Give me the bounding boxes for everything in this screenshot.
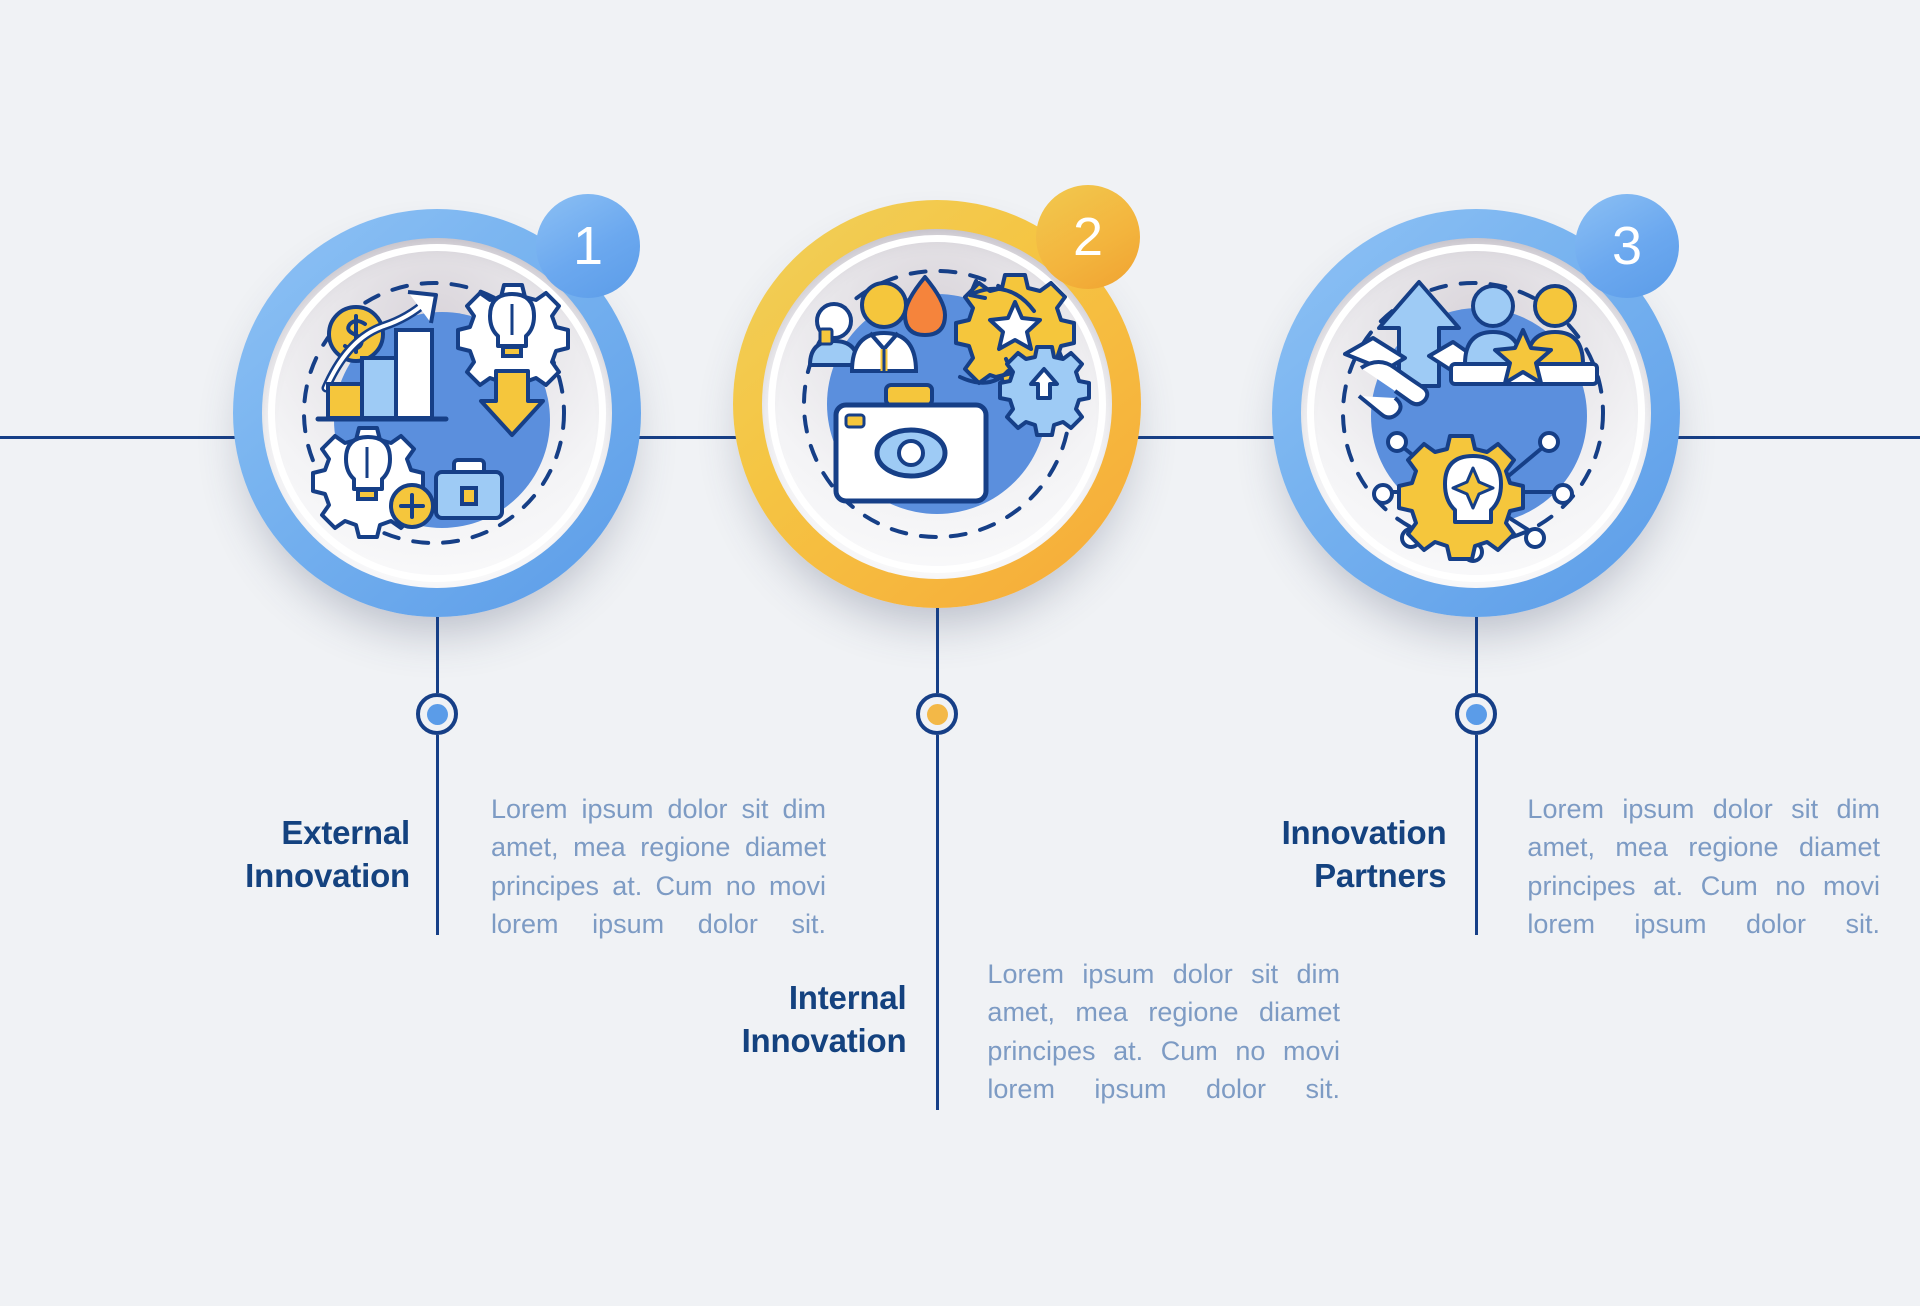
step-body-1: Lorem ipsum dolor sit dim amet, mea regi… [491, 790, 826, 943]
step-stem-upper-3 [1475, 617, 1478, 693]
step-title-2: Internal Innovation [620, 955, 942, 1063]
step-dot-core-2 [927, 704, 948, 725]
step-badge-number-2: 2 [1073, 210, 1103, 264]
step-badge-number-1: 1 [573, 219, 603, 273]
step-ring-inner-1 [262, 238, 612, 588]
step-circle-3[interactable]: 3 [1272, 209, 1680, 617]
step-title-3: Innovation Partners [1160, 790, 1482, 898]
step-dot-3[interactable] [1455, 693, 1497, 735]
step-node-3: 3 Innovation Partners Lorem ipsum dolor … [0, 0, 1920, 1306]
step-ring-inner-3 [1301, 238, 1651, 588]
step-body-3: Lorem ipsum dolor sit dim amet, mea regi… [1527, 790, 1880, 943]
step-text-2: Internal Innovation Lorem ipsum dolor si… [620, 955, 1340, 1108]
infographic-canvas: 1 External Innovation Lorem ipsum dolor … [0, 0, 1920, 1306]
step-dot-2[interactable] [916, 693, 958, 735]
step-title-line2-1: Innovation [120, 855, 410, 898]
step-dot-core-3 [1466, 704, 1487, 725]
step-title-1: External Innovation [120, 790, 446, 898]
step-title-line2-2: Innovation [620, 1020, 906, 1063]
step-body-2: Lorem ipsum dolor sit dim amet, mea regi… [987, 955, 1340, 1108]
step-title-line1-3: Innovation [1160, 812, 1446, 855]
step-circle-1[interactable]: 1 [233, 209, 641, 617]
step-text-3: Innovation Partners Lorem ipsum dolor si… [1160, 790, 1880, 943]
step-badge-number-3: 3 [1612, 219, 1642, 273]
step-stem-upper-2 [936, 608, 939, 693]
step-ring-inner-2 [762, 229, 1112, 579]
step-circle-2[interactable]: 2 [733, 200, 1141, 608]
step-stem-upper-1 [436, 617, 439, 693]
step-title-line1-2: Internal [620, 977, 906, 1020]
step-badge-3[interactable]: 3 [1575, 194, 1679, 298]
step-badge-2[interactable]: 2 [1036, 185, 1140, 289]
step-badge-1[interactable]: 1 [536, 194, 640, 298]
step-text-1: External Innovation Lorem ipsum dolor si… [120, 790, 840, 943]
step-title-line1-1: External [120, 812, 410, 855]
step-dot-core-1 [427, 704, 448, 725]
step-dot-1[interactable] [416, 693, 458, 735]
step-title-line2-3: Partners [1160, 855, 1446, 898]
